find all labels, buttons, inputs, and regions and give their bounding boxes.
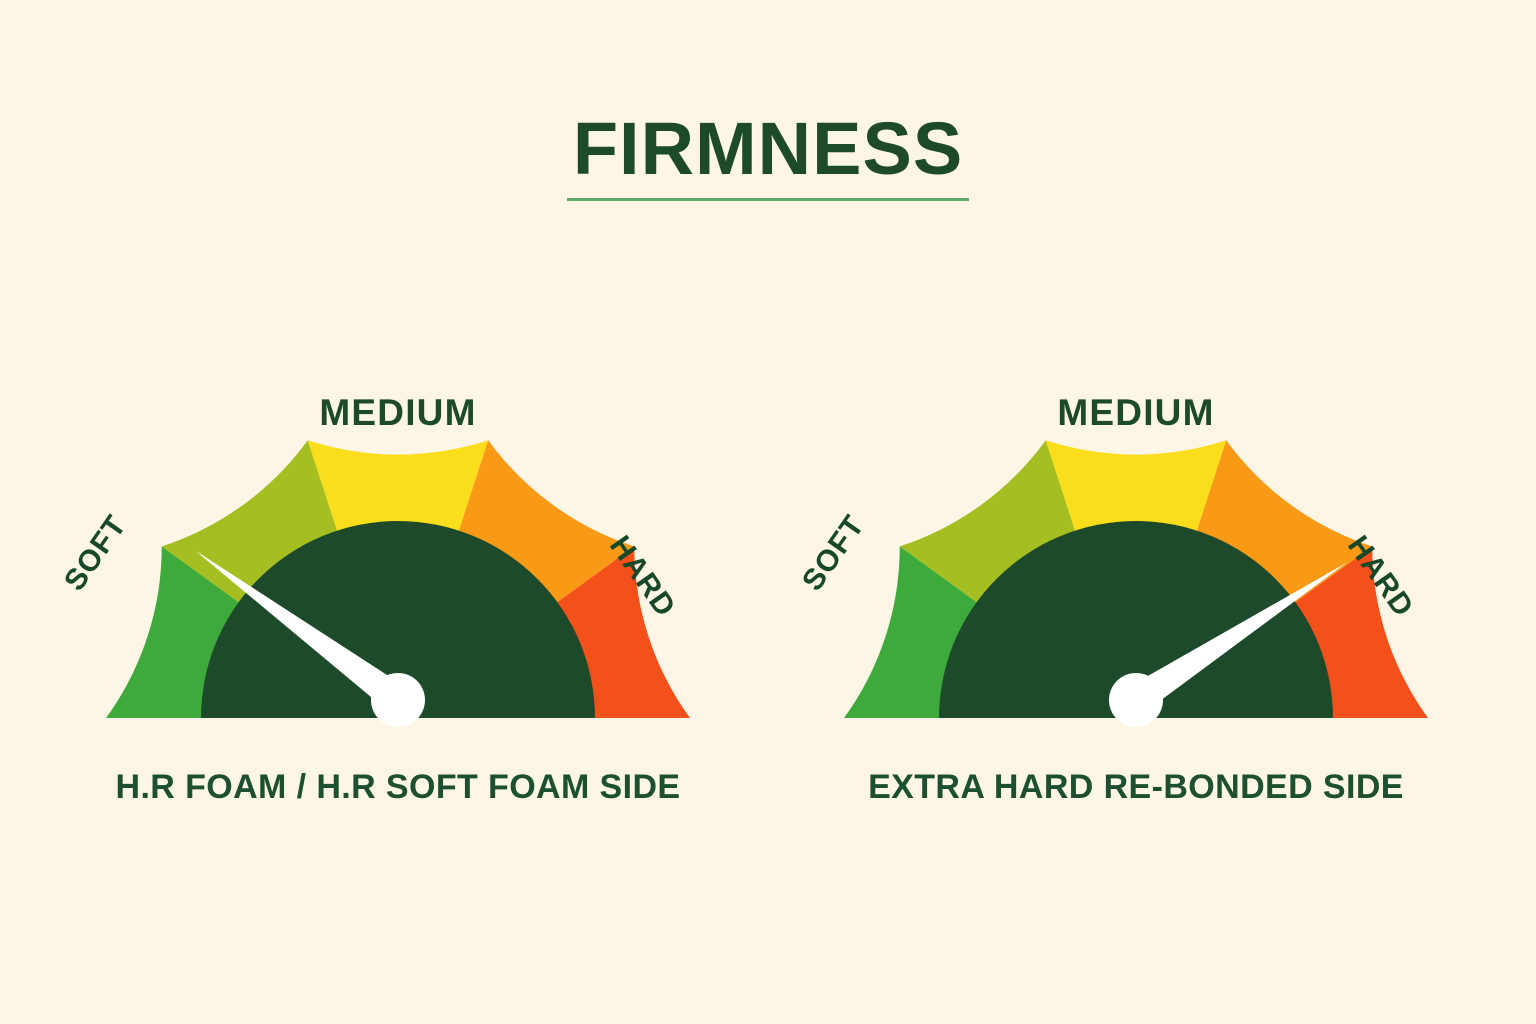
page-title-wrapper: FIRMNESS: [0, 112, 1536, 201]
gauge-dial-graphic: [48, 390, 748, 830]
infographic-canvas: FIRMNESS MEDIUM SOFT HARD H.R FOAM / H.R…: [0, 0, 1536, 1024]
gauge-caption: H.R FOAM / H.R SOFT FOAM SIDE: [48, 768, 748, 807]
gauge-needle-hub: [1109, 673, 1163, 727]
page-title: FIRMNESS: [567, 112, 969, 201]
gauge-needle-hub: [371, 673, 425, 727]
gauge-dial-graphic: [786, 390, 1486, 830]
gauge-card-hr-foam: MEDIUM SOFT HARD H.R FOAM / H.R SOFT FOA…: [48, 390, 748, 830]
gauge-card-rebonded: MEDIUM SOFT HARD EXTRA HARD RE-BONDED SI…: [786, 390, 1486, 830]
gauge-caption: EXTRA HARD RE-BONDED SIDE: [786, 768, 1486, 807]
